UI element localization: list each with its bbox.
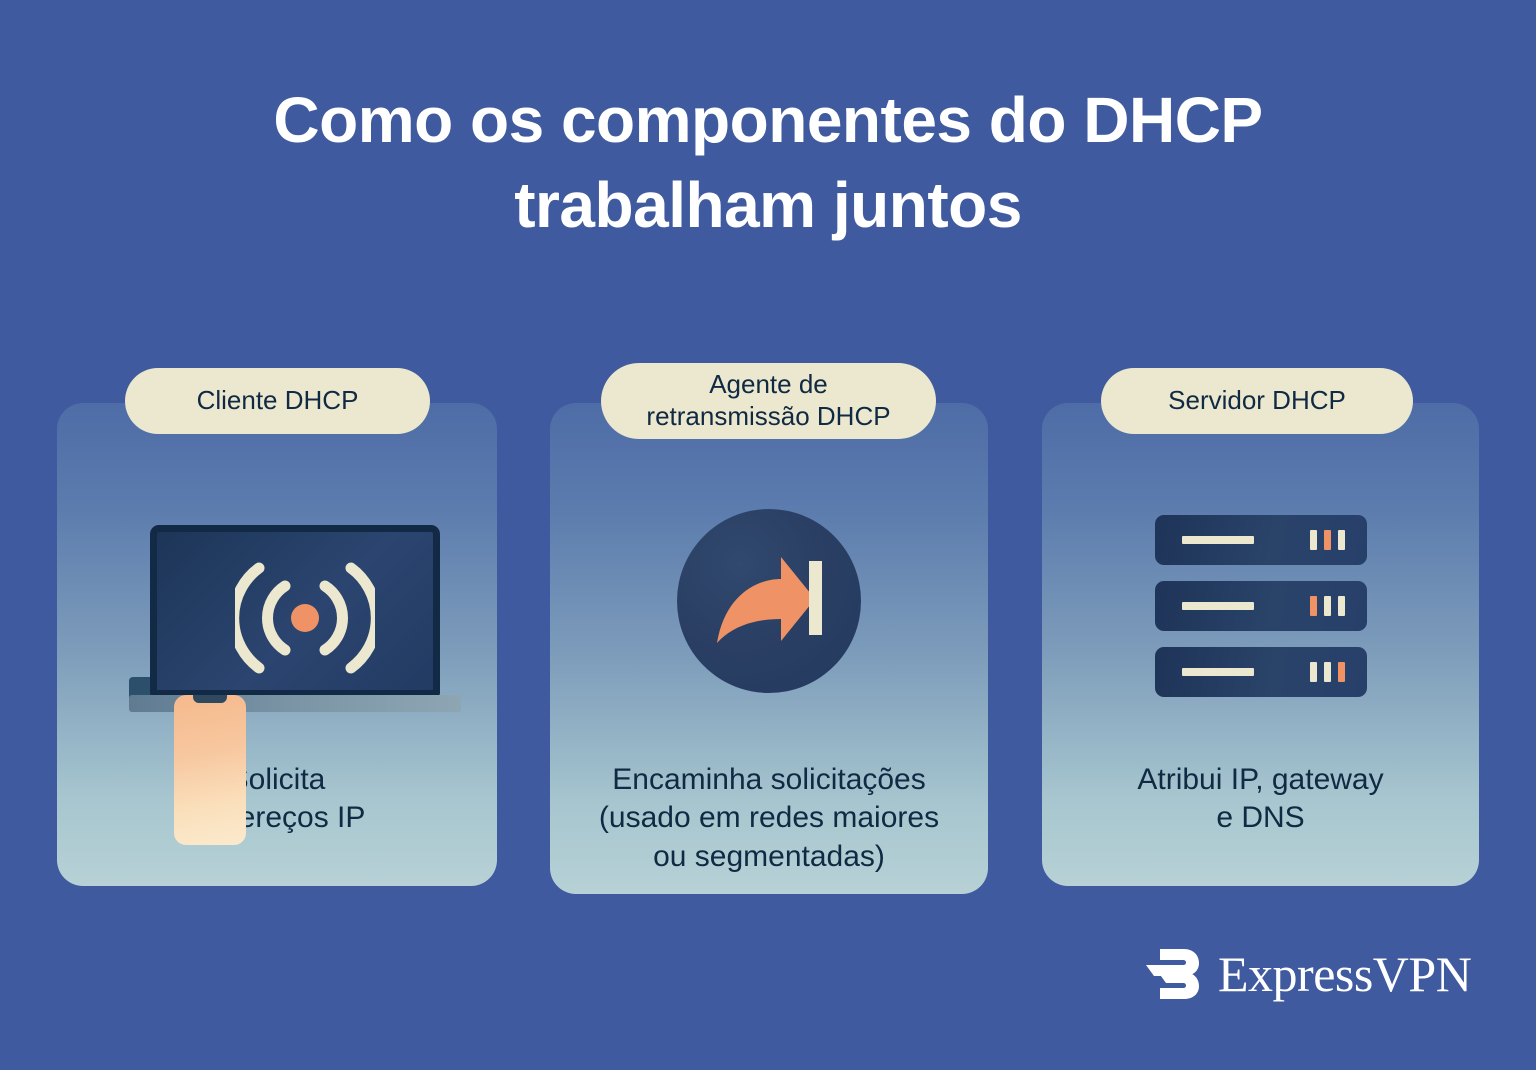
badge-dhcp-client: Cliente DHCP [125,368,430,434]
server-leds [1310,662,1345,682]
card-dhcp-client-caption: Solicita endereços IP [57,761,497,838]
server-bar [1182,668,1254,676]
caption-line: ou segmentadas) [564,838,974,876]
caption-line: Atribui IP, gateway [1056,761,1465,799]
card-dhcp-relay-agent: Encaminha solicitações (usado em redes m… [550,403,988,894]
server-leds [1310,530,1345,550]
card-dhcp-relay-agent-art [550,403,988,743]
expressvpn-logo: ExpressVPN [1140,943,1471,1005]
server-unit [1155,515,1367,565]
server-led [1324,662,1331,682]
caption-line: Solicita [71,761,483,799]
wifi-signal-icon [235,558,375,678]
card-dhcp-server: Atribui IP, gateway e DNS [1042,403,1479,886]
caption-line: Encaminha solicitações [564,761,974,799]
caption-line: endereços IP [71,799,483,837]
caption-line: (usado em redes maiores [564,799,974,837]
server-led [1324,596,1331,616]
server-stack-icon [1155,515,1367,713]
server-led-active [1338,662,1345,682]
card-dhcp-client: Solicita endereços IP [57,403,497,886]
badge-dhcp-relay-agent: Agente de retransmissão DHCP [601,363,936,439]
component-cards-row: Solicita endereços IP Encaminha solicita… [0,403,1536,903]
server-bar [1182,602,1254,610]
caption-line: e DNS [1056,799,1465,837]
server-leds [1310,596,1345,616]
server-led-active [1324,530,1331,550]
expressvpn-e-mark-icon [1140,943,1202,1005]
phone-notch [193,695,227,703]
page-title-line-1: Como os componentes do DHCP [273,84,1262,156]
card-dhcp-server-art [1042,403,1479,743]
badge-dhcp-server: Servidor DHCP [1101,368,1413,434]
badge-label-line-1: Agente de [709,369,828,399]
server-led [1338,530,1345,550]
laptop-screen [150,525,440,697]
server-led [1310,662,1317,682]
server-unit [1155,647,1367,697]
card-dhcp-client-art [57,403,497,743]
badge-label: Agente de retransmissão DHCP [646,369,890,433]
smartphone-icon [174,695,246,845]
page-title: Como os componentes do DHCP trabalham ju… [0,78,1536,248]
page-title-line-2: trabalham juntos [0,163,1536,248]
badge-label: Servidor DHCP [1168,385,1346,417]
badge-label-line-2: retransmissão DHCP [646,401,890,431]
card-dhcp-relay-agent-caption: Encaminha solicitações (usado em redes m… [550,761,988,876]
server-led-active [1310,596,1317,616]
forward-arrow-circle-icon [709,539,829,659]
laptop-phone-wifi-icon [150,525,440,713]
card-dhcp-server-caption: Atribui IP, gateway e DNS [1042,761,1479,838]
server-bar [1182,536,1254,544]
expressvpn-wordmark: ExpressVPN [1218,945,1471,1003]
server-led [1338,596,1345,616]
server-unit [1155,581,1367,631]
badge-label: Cliente DHCP [197,385,359,417]
server-led [1310,530,1317,550]
